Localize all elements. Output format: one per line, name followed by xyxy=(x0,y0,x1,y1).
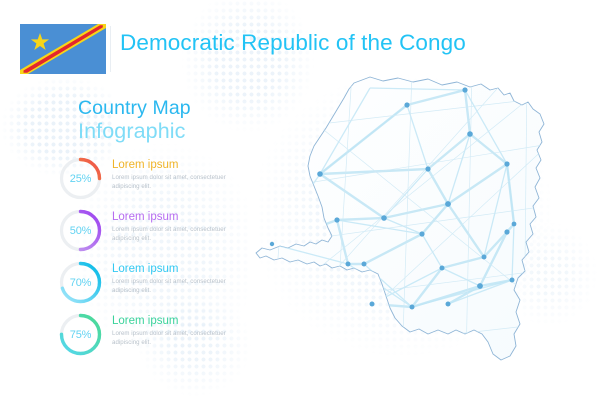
progress-percent-label: 50% xyxy=(58,208,103,253)
stat-row[interactable]: 50%Lorem ipsumLorem ipsum dolor sit amet… xyxy=(58,208,238,260)
democratic-republic-of-the-congo-flag xyxy=(20,24,106,74)
subtitle-line-infographic: Infographic xyxy=(78,121,191,143)
progress-percent-label: 70% xyxy=(58,260,103,305)
stat-description: Lorem ipsum dolor sit amet, consectetuer… xyxy=(112,330,238,348)
stat-row[interactable]: 70%Lorem ipsumLorem ipsum dolor sit amet… xyxy=(58,260,238,312)
democratic-republic-of-the-congo-network-map xyxy=(252,72,562,364)
stat-text-block: Lorem ipsumLorem ipsum dolor sit amet, c… xyxy=(112,159,238,192)
page-title: Democratic Republic of the Congo xyxy=(120,30,466,56)
stat-heading: Lorem ipsum xyxy=(112,159,238,172)
stat-text-block: Lorem ipsumLorem ipsum dolor sit amet, c… xyxy=(112,211,238,244)
stat-text-block: Lorem ipsumLorem ipsum dolor sit amet, c… xyxy=(112,263,238,296)
subtitle-block: Country Map Infographic xyxy=(78,99,191,142)
progress-percent-label: 75% xyxy=(58,312,103,357)
stat-row[interactable]: 25%Lorem ipsumLorem ipsum dolor sit amet… xyxy=(58,156,238,208)
infographic-canvas: Democratic Republic of the Congo Country… xyxy=(0,0,612,408)
stat-heading: Lorem ipsum xyxy=(112,315,238,328)
stat-heading: Lorem ipsum xyxy=(112,263,238,276)
map-container xyxy=(252,72,562,364)
stat-description: Lorem ipsum dolor sit amet, consectetuer… xyxy=(112,226,238,244)
statistics-list: 25%Lorem ipsumLorem ipsum dolor sit amet… xyxy=(58,156,238,364)
map-country-shape xyxy=(256,77,544,360)
stat-description: Lorem ipsum dolor sit amet, consectetuer… xyxy=(112,278,238,296)
header-divider xyxy=(110,26,111,72)
stat-description: Lorem ipsum dolor sit amet, consectetuer… xyxy=(112,174,238,192)
stat-text-block: Lorem ipsumLorem ipsum dolor sit amet, c… xyxy=(112,315,238,348)
stat-heading: Lorem ipsum xyxy=(112,211,238,224)
stat-row[interactable]: 75%Lorem ipsumLorem ipsum dolor sit amet… xyxy=(58,312,238,364)
subtitle-line-country-map: Country Map xyxy=(78,99,191,119)
progress-percent-label: 25% xyxy=(58,156,103,201)
